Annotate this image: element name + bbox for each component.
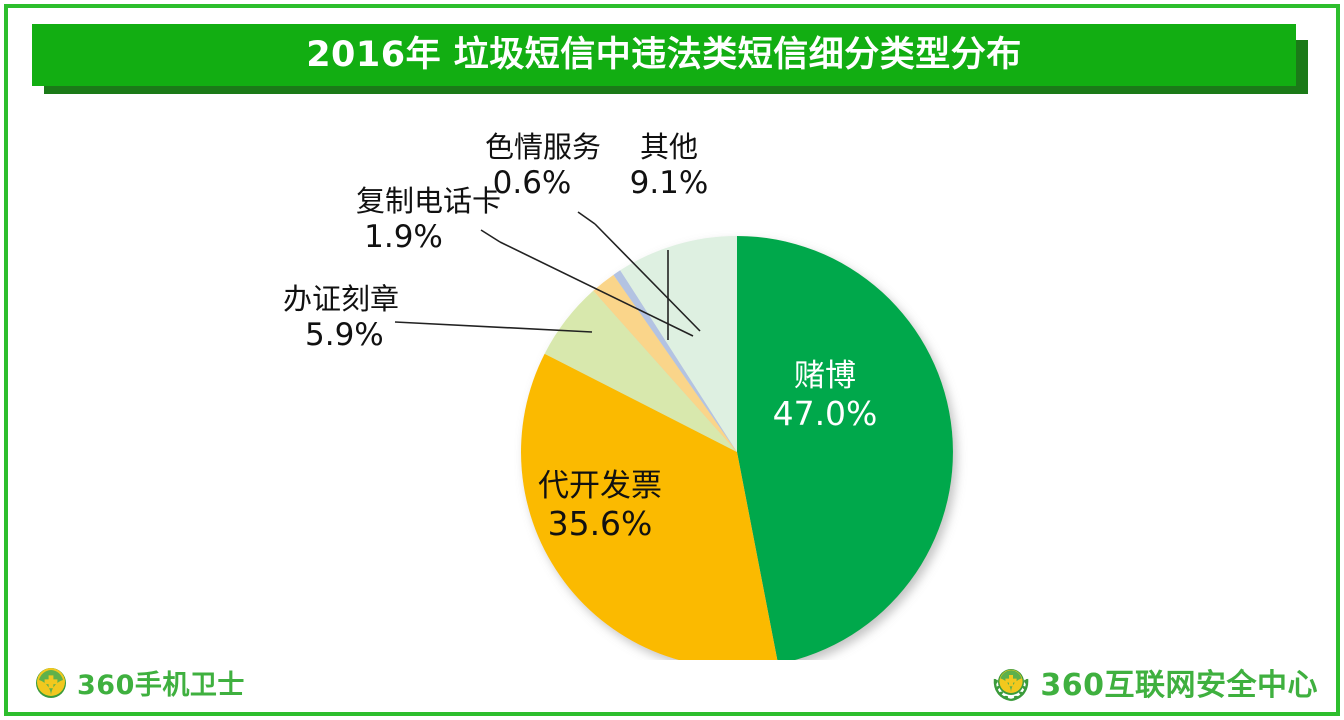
shield-check-icon (34, 666, 68, 704)
slide-root: 2016年 垃圾短信中违法类短信细分类型分布 赌博 47.0% 代开发票 35 (0, 0, 1344, 720)
logo-360-mobile-guard-text: 360手机卫士 (77, 672, 245, 699)
leader-line-4 (578, 212, 595, 224)
title-banner: 2016年 垃圾短信中违法类短信细分类型分布 (32, 24, 1296, 86)
pie-chart: 赌博 47.0% 代开发票 35.6% 其他 9.1% 色情服务 0.6% 复制… (0, 100, 1344, 660)
logo-name-right: 互联网安全中心 (1105, 668, 1319, 703)
logo-number-left: 360 (77, 670, 135, 701)
logo-number-right: 360 (1040, 668, 1104, 703)
laurel-wreath-icon (991, 664, 1031, 708)
footer: 360手机卫士 (0, 658, 1344, 720)
logo-360-security-center: 360互联网安全中心 (991, 664, 1318, 708)
logo-name-left: 手机卫士 (135, 670, 245, 701)
page-title: 2016年 垃圾短信中违法类短信细分类型分布 (306, 38, 1022, 73)
logo-360-mobile-guard: 360手机卫士 (34, 666, 245, 704)
pie-slice-group (521, 236, 953, 660)
leader-line-3 (481, 230, 500, 242)
pie-svg (0, 100, 1344, 660)
pie-slice-0 (737, 236, 953, 660)
pie-chart-canvas: 赌博 47.0% 代开发票 35.6% 其他 9.1% 色情服务 0.6% 复制… (0, 100, 1344, 660)
logo-360-security-center-text: 360互联网安全中心 (1040, 671, 1318, 701)
